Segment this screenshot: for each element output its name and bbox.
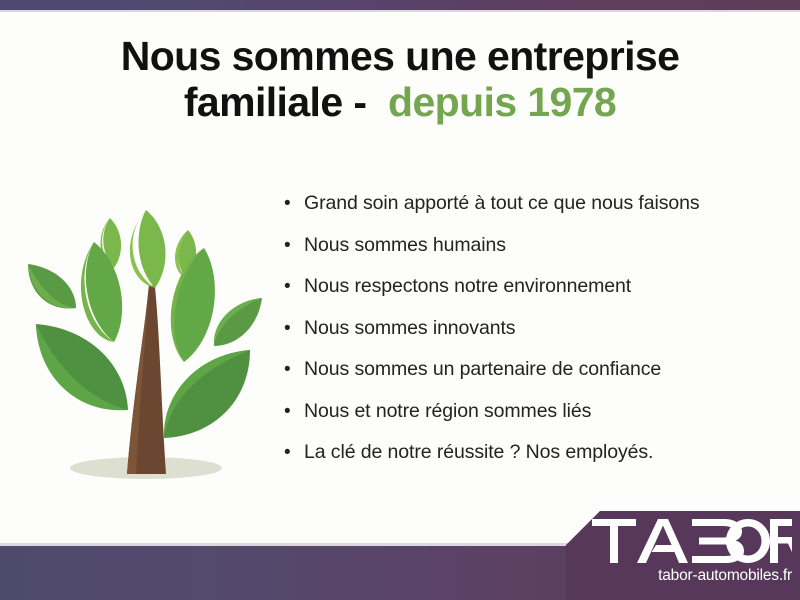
slide: Nous sommes une entreprise familiale - d… [0,0,800,600]
list-item-label: Nous et notre région sommes liés [304,398,591,425]
bullet-marker-icon: • [284,315,304,342]
tabor-logo-icon [592,519,792,563]
tabor-wordmark-icon [592,519,792,563]
title-accent-text: depuis 1978 [388,79,616,125]
title-line-1: Nous sommes une entreprise [0,34,800,80]
list-item-label: Nous sommes innovants [304,315,515,342]
logo-tagline: tabor-automobiles.fr [592,567,792,585]
list-item: • Nous sommes innovants [284,315,784,357]
brand-logo-inner: tabor-automobiles.fr [566,511,800,600]
bullet-marker-icon: • [284,273,304,300]
list-item: • Nous respectons notre environnement [284,273,784,315]
list-item: • La clé de notre réussite ? Nos employé… [284,439,784,481]
page-title: Nous sommes une entreprise familiale - d… [0,34,800,126]
bullet-marker-icon: • [284,356,304,383]
top-accent-bar [0,0,800,10]
title-line-2: familiale - depuis 1978 [0,80,800,126]
list-item-label: La clé de notre réussite ? Nos employés. [304,439,653,466]
top-accent-bar-hairline [0,10,800,12]
title-line-2-plain: familiale [184,79,343,125]
list-item: • Nous sommes humains [284,232,784,274]
bullet-marker-icon: • [284,439,304,466]
bullet-marker-icon: • [284,232,304,259]
tree-icon [18,188,270,488]
bullet-marker-icon: • [284,398,304,425]
tree-illustration [18,188,270,488]
list-item: • Nous et notre région sommes liés [284,398,784,440]
bullet-marker-icon: • [284,190,304,217]
title-dash-glyph: - [353,79,366,125]
list-item-label: Nous sommes humains [304,232,506,259]
list-item-label: Grand soin apporté à tout ce que nous fa… [304,190,700,217]
list-item-label: Nous sommes un partenaire de confiance [304,356,661,383]
list-item: • Grand soin apporté à tout ce que nous … [284,190,784,232]
title-dash [343,79,354,125]
brand-logo-panel[interactable]: tabor-automobiles.fr [566,511,800,600]
list-item-label: Nous respectons notre environnement [304,273,631,300]
list-item: • Nous sommes un partenaire de confiance [284,356,784,398]
bullet-list: • Grand soin apporté à tout ce que nous … [284,190,784,481]
title-spacer [366,79,388,125]
